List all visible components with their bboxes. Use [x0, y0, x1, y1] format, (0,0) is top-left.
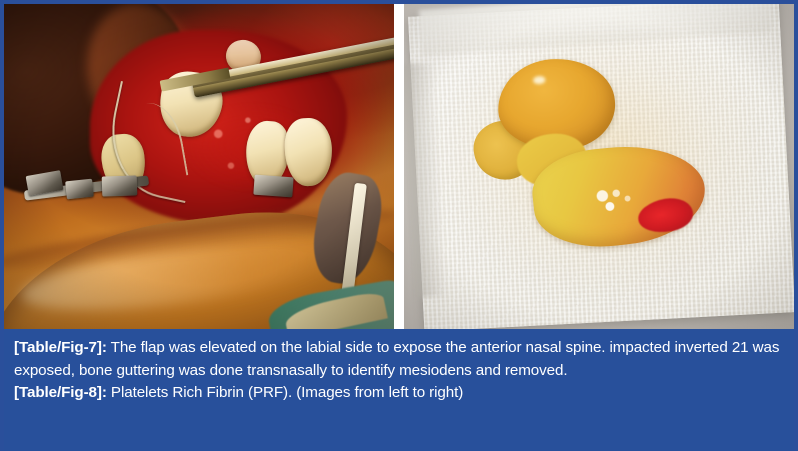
caption-entry-fig8: [Table/Fig-8]: Platelets Rich Fibrin (PR…: [14, 382, 784, 405]
caption-tag-fig7: [Table/Fig-7]:: [14, 339, 107, 356]
oral-cavity-scene: [4, 4, 394, 329]
orthodontic-bracket-3: [101, 176, 137, 197]
orthodontic-bracket-4: [253, 175, 293, 197]
prf-scene: [404, 4, 794, 329]
platelet-rich-fibrin-photo: [404, 4, 794, 329]
image-gutter: [394, 4, 404, 329]
intraoral-surgical-exposure-photo: [4, 4, 394, 329]
figure-panel: [Table/Fig-7]: The flap was elevated on …: [0, 0, 798, 451]
caption-text-fig7: The flap was elevated on the labial side…: [14, 339, 779, 379]
caption-entry-fig7: [Table/Fig-7]: The flap was elevated on …: [14, 337, 784, 382]
figure-image-row: [4, 4, 794, 329]
figure-caption-band: [Table/Fig-7]: The flap was elevated on …: [0, 329, 798, 451]
orthodontic-bracket-2: [66, 178, 95, 199]
caption-text-fig8: Platelets Rich Fibrin (PRF). (Images fro…: [107, 384, 463, 401]
caption-tag-fig8: [Table/Fig-8]:: [14, 384, 107, 401]
prf-highlight-specks: [591, 186, 653, 219]
